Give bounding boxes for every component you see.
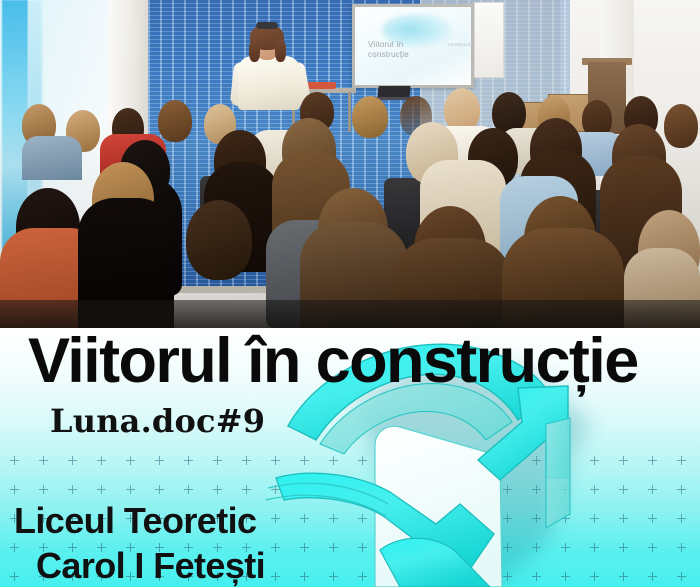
plus-mark <box>10 456 19 465</box>
school-name-line1: Liceul Teoretic <box>14 498 265 543</box>
photo-bottom-shadow <box>0 300 700 328</box>
poster-canvas: Viitorul în construcție constructie <box>0 0 700 587</box>
plus-mark <box>68 456 77 465</box>
photo-shading-overlay <box>0 0 700 328</box>
plus-mark <box>184 456 193 465</box>
plus-mark <box>97 485 106 494</box>
plus-mark <box>39 456 48 465</box>
school-name: Liceul Teoretic Carol I Fetești <box>14 498 265 587</box>
poster-subtitle: Luna.doc#9 <box>50 404 265 438</box>
arrow-fin <box>546 418 570 528</box>
plus-mark <box>213 485 222 494</box>
plus-mark <box>68 485 77 494</box>
plus-mark <box>97 456 106 465</box>
plus-mark <box>155 485 164 494</box>
plus-mark <box>155 456 164 465</box>
plus-mark <box>39 485 48 494</box>
plus-mark <box>213 456 222 465</box>
plus-mark <box>126 485 135 494</box>
plus-mark <box>126 456 135 465</box>
poster-title: Viitorul în construcție <box>28 330 700 393</box>
plus-mark <box>10 485 19 494</box>
plus-mark <box>184 485 193 494</box>
school-name-line2: Carol I Fetești <box>36 543 265 587</box>
classroom-photo: Viitorul în construcție constructie <box>0 0 700 328</box>
